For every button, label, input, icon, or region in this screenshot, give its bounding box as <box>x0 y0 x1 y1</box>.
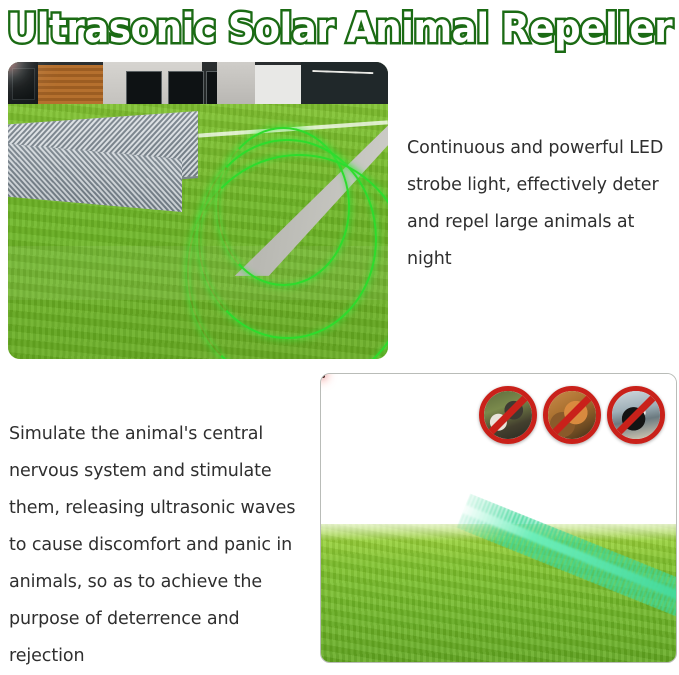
pir-motion-sensor-icon <box>8 62 12 66</box>
house-window <box>168 71 204 106</box>
no-skunk-badge <box>607 386 665 444</box>
feature-text-ultrasonic-waves: Simulate the animal's central nervous sy… <box>9 416 314 675</box>
house-wall-grey-right <box>217 62 255 104</box>
product-photo-lawn-scene <box>8 62 388 359</box>
page-title-banner: Ultrasonic Solar Animal Repeller <box>0 0 679 58</box>
no-raccoon-badge <box>479 386 537 444</box>
product-photo-beam-scene <box>320 373 677 663</box>
house-window <box>126 71 162 106</box>
house-panel-white <box>255 65 301 104</box>
device-side-ribs <box>321 374 323 376</box>
house-window-dark <box>12 68 35 100</box>
repelled-animal-badges <box>479 386 665 444</box>
no-deer-badge <box>543 386 601 444</box>
page-title: Ultrasonic Solar Animal Repeller <box>7 7 672 51</box>
feature-text-led-strobe: Continuous and powerful LED strobe light… <box>407 130 675 278</box>
